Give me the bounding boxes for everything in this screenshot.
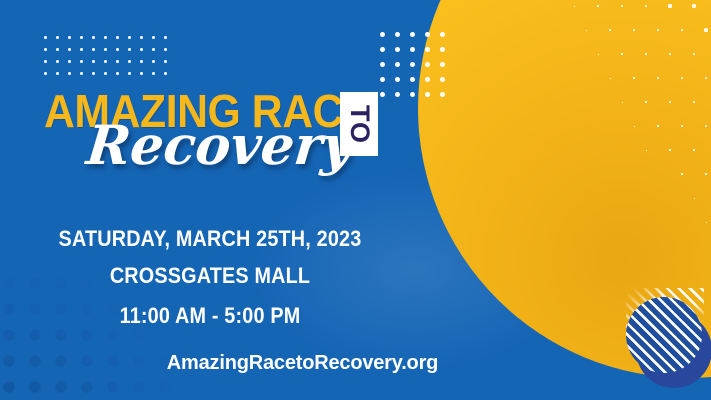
title-script: Recovery <box>84 118 355 172</box>
to-badge: TO <box>340 92 378 156</box>
website-url[interactable]: AmazingRacetoRecovery.org <box>0 352 711 375</box>
event-details: SATURDAY, MARCH 25TH, 2023 CROSSGATES MA… <box>0 222 420 336</box>
event-date: SATURDAY, MARCH 25TH, 2023 <box>21 222 399 256</box>
event-time: 11:00 AM - 5:00 PM <box>21 296 399 336</box>
event-flyer: AMAZING RACE Recovery TO SATURDAY, MARCH… <box>0 0 711 400</box>
website-url-text: AmazingRacetoRecovery.org <box>167 352 438 375</box>
title-block: AMAZING RACE Recovery <box>44 88 444 198</box>
to-badge-label: TO <box>346 104 373 143</box>
event-venue: CROSSGATES MALL <box>21 256 399 296</box>
